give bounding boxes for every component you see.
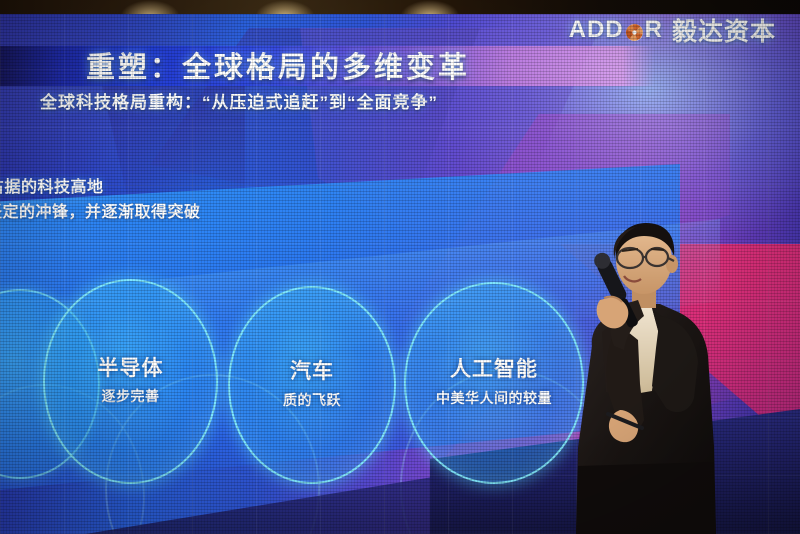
slide-body-line-2: 坚定的冲锋，并逐渐取得突破 (0, 201, 201, 226)
feature-bubble-automobile: 汽车 质的飞跃 (228, 286, 396, 484)
brand-logo-text-left: ADD (569, 16, 624, 44)
brand-logo-text-right: R (645, 16, 663, 44)
screenshot-stage: 半导体 逐步完善 汽车 质的飞跃 人工智能 中美华人间的较量 重塑：全球格局的多… (0, 0, 800, 534)
ceiling-light-2 (255, 0, 315, 14)
feature-bubble-title: 人工智能 (450, 358, 538, 381)
slide-body-line-1: 占据的科技高地 (0, 176, 201, 201)
feature-bubble-title: 汽车 (290, 360, 334, 383)
brand-logo: ADD (569, 12, 776, 48)
aperture-icon (625, 21, 644, 40)
page-title: 重塑：全球格局的多维变革 (86, 44, 470, 86)
feature-bubble-title: 半导体 (98, 357, 164, 380)
feature-bubble-subtitle: 逐步完善 (102, 386, 160, 406)
presenter-with-microphone (556, 216, 746, 534)
brand-logo-chinese: 毅达资本 (672, 12, 776, 48)
brand-logo-wordmark: ADD (569, 16, 663, 44)
slide-body-text: 占据的科技高地 坚定的冲锋，并逐渐取得突破 (0, 176, 201, 226)
feature-bubble-semiconductor: 半导体 逐步完善 (43, 279, 218, 484)
ceiling-light-3 (400, 0, 460, 14)
page-subtitle: 全球科技格局重构：“从压迫式追赶”到“全面竞争” (40, 88, 438, 113)
ceiling-light-1 (120, 0, 180, 14)
feature-bubble-subtitle: 中美华人间的较量 (436, 388, 552, 408)
ceiling-strip (0, 0, 800, 14)
feature-bubble-subtitle: 质的飞跃 (283, 390, 341, 410)
